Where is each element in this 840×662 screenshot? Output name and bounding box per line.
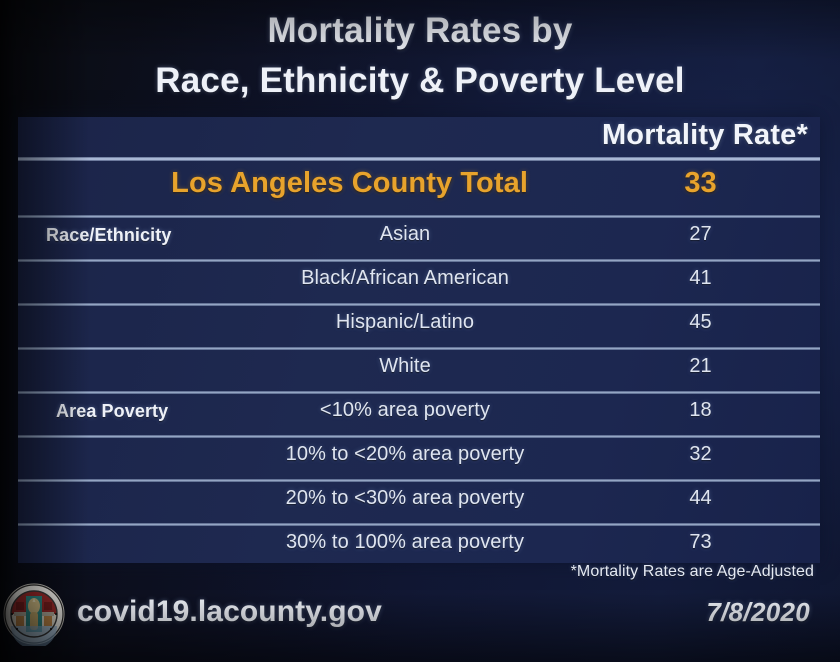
county-total-value: 33: [618, 167, 783, 200]
slide-date: 7/8/2020: [706, 597, 810, 628]
column-header-mortality-rate: Mortality Rate*: [602, 119, 808, 152]
category-label: Black/African American: [240, 267, 570, 290]
county-total-label: Los Angeles County Total: [18, 167, 528, 200]
rate-value: 21: [618, 355, 783, 378]
la-county-seal-icon: [2, 582, 66, 646]
category-label: Hispanic/Latino: [240, 311, 570, 334]
table-row: Area Poverty <10% area poverty 18: [18, 394, 820, 435]
mortality-table: Mortality Rate* Los Angeles County Total…: [18, 117, 820, 563]
table-row: 10% to <20% area poverty 32: [18, 438, 820, 479]
table-row: 30% to 100% area poverty 73: [18, 526, 820, 567]
table-row-county-total: Los Angeles County Total 33: [18, 161, 820, 215]
rate-value: 32: [618, 443, 783, 466]
table-header-row: Mortality Rate*: [18, 117, 820, 157]
footnote-age-adjusted: *Mortality Rates are Age-Adjusted: [571, 563, 814, 581]
category-label: 10% to <20% area poverty: [240, 443, 570, 466]
category-label: <10% area poverty: [240, 399, 570, 422]
table-row: Hispanic/Latino 45: [18, 306, 820, 347]
rate-value: 18: [618, 399, 783, 422]
table-row: Race/Ethnicity Asian 27: [18, 218, 820, 259]
slide-canvas: Mortality Rates by Race, Ethnicity & Pov…: [0, 0, 840, 662]
table-row: White 21: [18, 350, 820, 391]
rate-value: 44: [618, 487, 783, 510]
rate-value: 41: [618, 267, 783, 290]
title-line-2: Race, Ethnicity & Poverty Level: [0, 56, 840, 106]
category-label: White: [240, 355, 570, 378]
title-line-1: Mortality Rates by: [0, 6, 840, 56]
rate-value: 45: [618, 311, 783, 334]
category-label: Asian: [240, 223, 570, 246]
category-label: 20% to <30% area poverty: [240, 487, 570, 510]
site-url-text: covid19.lacounty.gov: [77, 595, 382, 629]
table-row: 20% to <30% area poverty 44: [18, 482, 820, 523]
page-title: Mortality Rates by Race, Ethnicity & Pov…: [0, 6, 840, 105]
rate-value: 73: [618, 531, 783, 554]
table-row: Black/African American 41: [18, 262, 820, 303]
category-label: 30% to 100% area poverty: [240, 531, 570, 554]
rate-value: 27: [618, 223, 783, 246]
